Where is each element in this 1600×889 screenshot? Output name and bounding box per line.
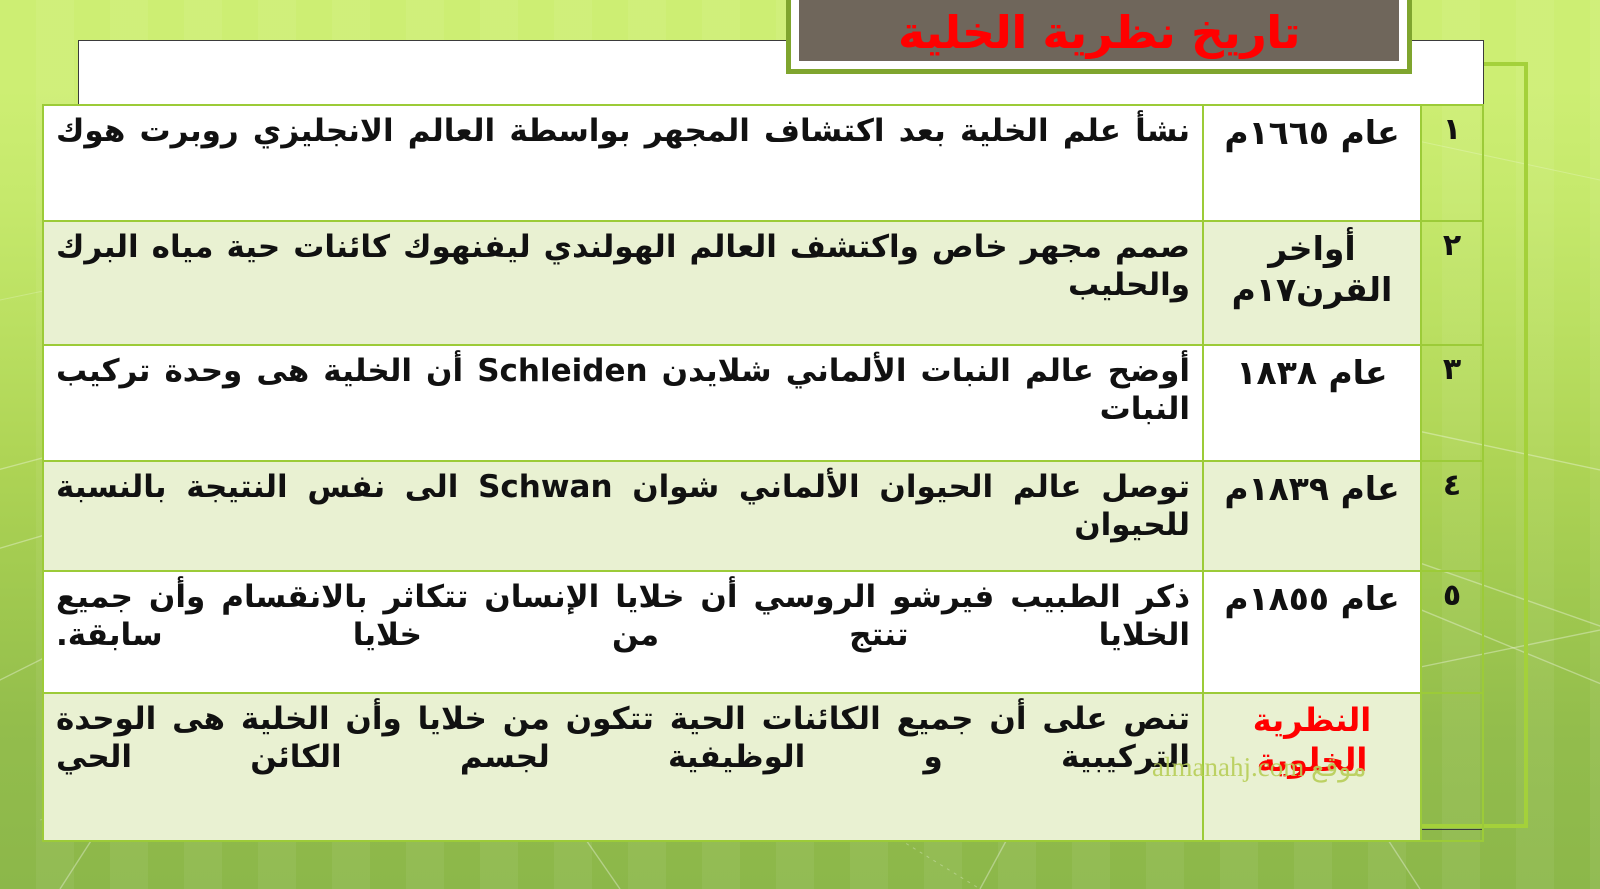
table-row[interactable]: ٤ عام ١٨٣٩م توصل عالم الحيوان الألماني ش…	[43, 461, 1483, 571]
row-number: ٢	[1421, 221, 1483, 345]
row-label-cell-theory: النظرية الخلوية	[1203, 693, 1421, 841]
table-row[interactable]: ٢ أواخر القرن١٧م صمم مجهر خاص واكتشف الع…	[43, 221, 1483, 345]
row-number	[1421, 693, 1483, 841]
row-number: ٤	[1421, 461, 1483, 571]
row-description: ذكر الطبيب فيرشو الروسي أن خلايا الإنسان…	[43, 571, 1203, 693]
row-description: أوضح عالم النبات الألماني شلايدن Schleid…	[43, 345, 1203, 461]
row-description: صمم مجهر خاص واكتشف العالم الهولندي ليفن…	[43, 221, 1203, 345]
table-row[interactable]: ٣ عام ١٨٣٨ أوضح عالم النبات الألماني شلا…	[43, 345, 1483, 461]
row-description: توصل عالم الحيوان الألماني شوان Schwan ا…	[43, 461, 1203, 571]
row-description: تنص على أن جميع الكائنات الحية تتكون من …	[43, 693, 1203, 841]
cell-theory-history-table: ١ عام ١٦٦٥م نشأ علم الخلية بعد اكتشاف ال…	[42, 104, 1484, 842]
row-number: ٣	[1421, 345, 1483, 461]
row-date: عام ١٦٦٥م	[1203, 105, 1421, 221]
row-description: نشأ علم الخلية بعد اكتشاف المجهر بواسطة …	[43, 105, 1203, 221]
row-date: عام ١٨٥٥م	[1203, 571, 1421, 693]
row-date: أواخر القرن١٧م	[1203, 221, 1421, 345]
history-table: ١ عام ١٦٦٥م نشأ علم الخلية بعد اكتشاف ال…	[42, 104, 1484, 842]
table-row[interactable]: ١ عام ١٦٦٥م نشأ علم الخلية بعد اكتشاف ال…	[43, 105, 1483, 221]
table-row[interactable]: ٥ عام ١٨٥٥م ذكر الطبيب فيرشو الروسي أن خ…	[43, 571, 1483, 693]
page-title: تاريخ نظرية الخلية	[898, 0, 1300, 55]
row-date: عام ١٨٣٩م	[1203, 461, 1421, 571]
row-date: عام ١٨٣٨	[1203, 345, 1421, 461]
history-table-body: ١ عام ١٦٦٥م نشأ علم الخلية بعد اكتشاف ال…	[43, 105, 1483, 841]
row-number: ١	[1421, 105, 1483, 221]
table-row-cell-theory[interactable]: النظرية الخلوية تنص على أن جميع الكائنات…	[43, 693, 1483, 841]
slide-title-background: تاريخ نظرية الخلية	[799, 0, 1399, 61]
row-number: ٥	[1421, 571, 1483, 693]
slide-title-plaque: تاريخ نظرية الخلية	[786, 0, 1412, 74]
